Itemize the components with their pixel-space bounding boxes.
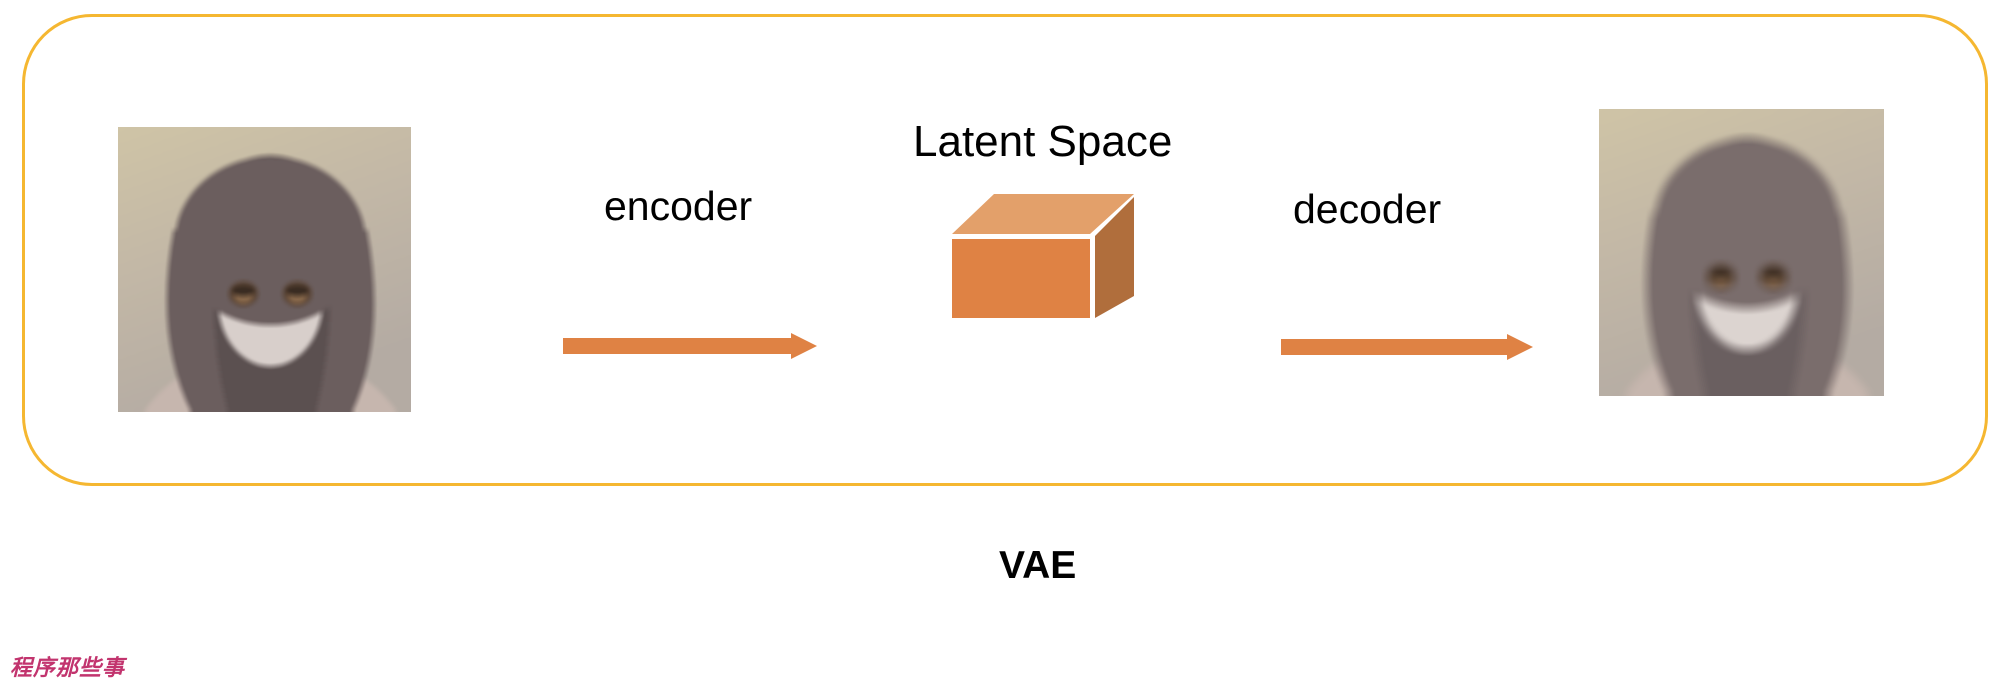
- vae-title: VAE: [999, 544, 1076, 588]
- decoder-arrow: [1281, 334, 1533, 360]
- encoder-arrow: [563, 333, 817, 359]
- input-image-canvas: [118, 127, 411, 412]
- latent-space-cube-icon: [950, 192, 1134, 320]
- cube-front-face: [952, 239, 1090, 318]
- encoder-arrow-shaft: [563, 338, 791, 354]
- decoder-label: decoder: [1293, 186, 1441, 233]
- decoder-arrow-head: [1507, 334, 1533, 360]
- encoder-label: encoder: [604, 183, 752, 230]
- output-image: [1599, 109, 1884, 396]
- encoder-arrow-head: [791, 333, 817, 359]
- decoder-arrow-shaft: [1281, 339, 1507, 355]
- output-image-canvas: [1599, 109, 1884, 396]
- latent-space-label: Latent Space: [913, 117, 1172, 167]
- input-image: [118, 127, 411, 412]
- watermark: 程序那些事: [10, 650, 125, 682]
